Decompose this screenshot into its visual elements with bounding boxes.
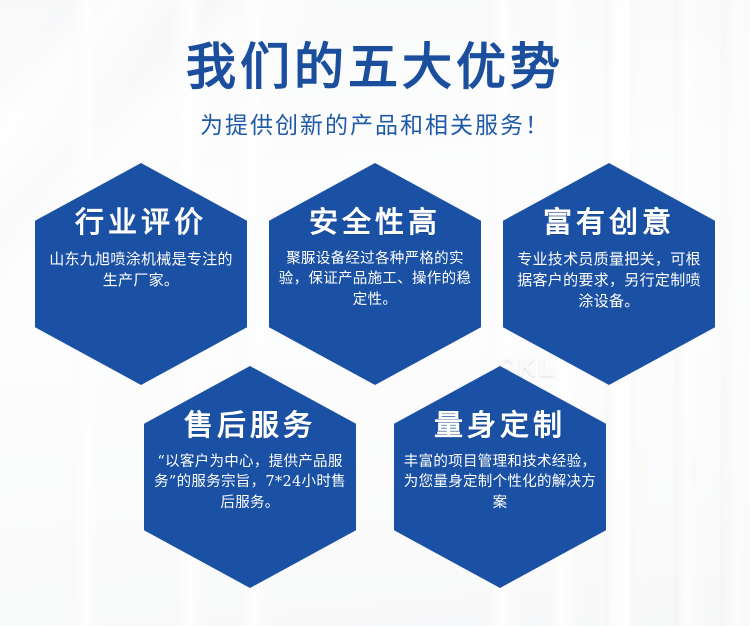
advantage-desc-3: 专业技术员质量把关，可根据客户的要求，另行定制喷涂设备。 bbox=[511, 249, 707, 313]
heading-block: 我们的五大优势 为提供创新的产品和相关服务！ bbox=[0, 38, 750, 140]
advantage-desc-1: 山东九旭喷涂机械是专注的生产厂家。 bbox=[43, 249, 239, 292]
promo-banner: SKL 我们的五大优势 为提供创新的产品和相关服务！ 行业评价 山东九旭喷涂机械… bbox=[0, 0, 750, 626]
advantage-desc-4: “以客户为中心，提供产品服务”的服务宗旨，7*24小时售后服务。 bbox=[152, 452, 348, 514]
advantage-title-1: 行业评价 bbox=[75, 207, 207, 239]
page-title: 我们的五大优势 bbox=[0, 38, 750, 96]
advantage-title-5: 量身定制 bbox=[434, 410, 566, 442]
advantage-title-3: 富有创意 bbox=[543, 207, 675, 239]
page-subtitle: 为提供创新的产品和相关服务！ bbox=[0, 106, 750, 140]
advantage-desc-5: 丰富的项目管理和技术经验，为您量身定制个性化的解决方案 bbox=[402, 452, 598, 514]
advantage-desc-2: 聚脲设备经过各种严格的实验，保证产品施工、操作的稳定性。 bbox=[277, 249, 473, 311]
advantage-title-4: 售后服务 bbox=[184, 410, 316, 442]
advantage-title-2: 安全性高 bbox=[309, 207, 441, 239]
